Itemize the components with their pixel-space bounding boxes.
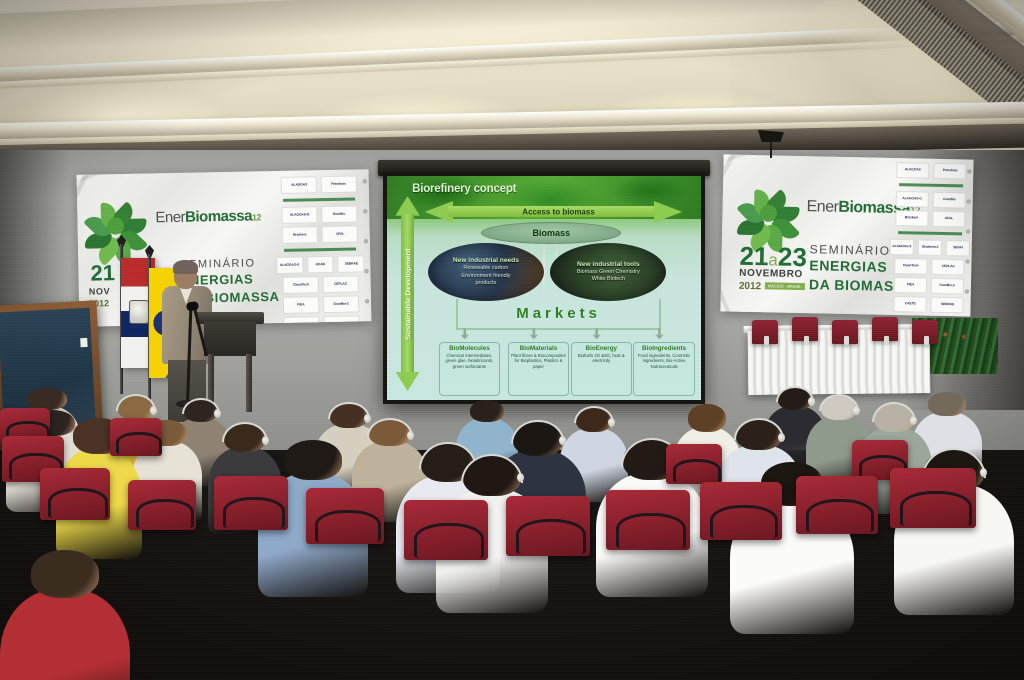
oval-new-industrial-needs: New industrial needs Renewable carbon En…: [428, 243, 544, 301]
banner-grommet: [363, 209, 367, 213]
sponsor-row: ALAGOASPetrobras: [891, 162, 971, 180]
sponsor-row: CleanTechCEPLAC: [277, 275, 365, 294]
sponsor-logo: UFAL: [932, 211, 965, 228]
audience-member-head: [31, 550, 99, 598]
sponsor-logo-grid-right: ALAGOASPetrobrasALAGOAS-GGranBioBraskemU…: [888, 162, 971, 314]
translation-headset-icon: [511, 420, 565, 444]
translation-headset-icon: [461, 454, 523, 483]
arrow-head-right-icon: [654, 201, 682, 223]
sponsor-logo: CEPLAC: [323, 275, 359, 293]
audience-member-head: [928, 392, 966, 416]
banner-right-year: 2012: [739, 281, 761, 292]
headset-earpad-icon: [778, 433, 785, 442]
audience-member-torso: [0, 589, 130, 680]
sponsor-logo: Braskem-2: [918, 239, 942, 255]
headset-earpad-icon: [150, 406, 157, 415]
banner-right-line1: ENERGIAS: [809, 257, 887, 275]
banner-left-date: 21: [90, 262, 115, 284]
sponsor-logo: GranBio: [933, 192, 966, 209]
sponsor-logo: SENAI: [946, 240, 970, 256]
sponsor-logo: UFAL: [322, 225, 358, 243]
headset-earpad-icon: [608, 418, 615, 427]
banner-grommet: [965, 259, 969, 263]
sponsor-logo: HCAB: [307, 256, 334, 274]
audience-chair: [404, 500, 488, 560]
headset-earpad-icon: [980, 468, 987, 477]
projector-mount-rod: [770, 140, 772, 158]
sponsor-logo: Petrobras: [933, 163, 966, 180]
audience-member-head: [27, 388, 67, 410]
audience-chair: [890, 468, 976, 528]
sponsor-logo: ALAGOAS-G: [281, 206, 317, 224]
sponsor-row: ALAGOAS-SBraskem-2SENAI: [890, 239, 970, 257]
audience-chair: [40, 468, 110, 520]
sponsor-logo: Braskem: [282, 226, 318, 244]
banner-grommet: [364, 269, 368, 273]
sponsor-row: BraskemUFAL: [276, 225, 364, 244]
headset-earpad-icon: [517, 473, 524, 482]
sponsor-logo: ALAGOAS-S: [276, 256, 303, 274]
audience-chair: [606, 490, 690, 550]
sponsor-logo: Braskem: [895, 210, 928, 227]
banner-right-year-badge: MACEIÓ · BRASIL: [765, 282, 805, 290]
sponsor-logo: ALAGOAS-S: [890, 239, 914, 255]
oval-line: White Biotech: [592, 276, 625, 283]
banner-grommet: [966, 229, 970, 233]
sponsor-row: ALAGOASPetrobras: [275, 175, 363, 194]
sponsor-logo: CleanTech: [283, 276, 319, 294]
sponsor-logo: ALAGOAS-G: [896, 191, 929, 208]
brand-wordmark-left: EnerBiomassa12: [155, 207, 261, 226]
enerbiomassa-logo-right: [736, 181, 801, 246]
conference-photo: EnerBiomassa12 21 NOV 2012 SEMINÁRIO ENE…: [0, 0, 1024, 680]
headset-earpad-icon: [910, 416, 917, 425]
slide-title: Biorefinery concept: [412, 183, 516, 195]
oval-title: New industrial needs: [453, 257, 519, 264]
audience-member-head: [284, 440, 342, 480]
access-to-biomass-arrow: Access to biomass: [425, 202, 682, 222]
audience-member: [176, 510, 296, 680]
banner-right-month: NOVEMBRO: [739, 268, 803, 280]
sponsor-row: ALAGOAS-GGranBio: [891, 191, 971, 209]
banner-grommet: [363, 179, 367, 183]
oval-new-industrial-tools: New industrial tools Biomass Green Chemi…: [550, 243, 666, 301]
banner-left-month: NOV: [89, 286, 111, 296]
sponsor-divider: [284, 247, 356, 251]
sponsor-row: BraskemUFAL: [890, 210, 970, 228]
sponsor-divider: [898, 231, 962, 235]
audience-chair: [110, 418, 162, 456]
audience-member-head: [470, 400, 504, 422]
sponsor-logo: GranBio-2: [931, 278, 964, 295]
oval-title: New industrial tools: [577, 261, 640, 268]
banner-grommet: [364, 239, 368, 243]
sponsor-divider: [899, 183, 963, 187]
translation-headset-icon: [734, 418, 784, 440]
banner-grommet: [967, 200, 971, 204]
banner-right-date-range: 21a23: [739, 243, 807, 270]
banner-right-kicker: SEMINÁRIO: [810, 242, 891, 258]
audience-chair: [506, 496, 590, 556]
sponsor-logo: CleanTech: [894, 258, 927, 275]
sponsor-logo: CEPLAC: [931, 259, 964, 276]
sponsor-row: FIEAGranBio-2: [889, 277, 969, 295]
banner-right: EnerBiomassa12 21a23 NOVEMBRO 2012 MACEI…: [720, 154, 973, 316]
audience-chair: [796, 476, 878, 534]
audience-member: [0, 550, 130, 680]
sponsor-row: ALAGOAS-SHCABSEBRAE: [276, 255, 364, 274]
ceiling: [0, 0, 1024, 152]
banner-grommet: [965, 289, 969, 293]
sponsor-divider: [283, 197, 355, 201]
audience-chair: [306, 488, 384, 544]
sponsor-logo: SEBRAE: [338, 255, 365, 273]
oval-line: Renewable carbon: [463, 265, 508, 272]
audience-chair: [214, 476, 288, 530]
headset-earpad-icon: [407, 431, 414, 440]
sponsor-logo: Petrobras: [321, 175, 357, 193]
audience-chair: [700, 482, 782, 540]
sponsor-logo: GranBio: [321, 205, 357, 223]
audience: [0, 300, 1024, 680]
sponsor-row: CleanTechCEPLAC: [889, 258, 969, 276]
oval-line: products: [476, 280, 497, 287]
sponsor-logo: ALAGOAS: [281, 176, 317, 194]
banner-grommet: [967, 170, 971, 174]
sponsor-row: ALAGOAS-GGranBio: [275, 205, 363, 224]
headset-earpad-icon: [214, 409, 221, 418]
horizontal-arrow-label: Access to biomass: [522, 207, 594, 216]
enerbiomassa-logo-left: [83, 193, 148, 258]
audience-chair: [128, 480, 196, 530]
oval-line: Environment friendly: [461, 273, 510, 280]
sponsor-logo: ALAGOAS: [896, 162, 929, 179]
sponsor-logo: FIEA: [894, 277, 927, 294]
presenter-hair: [173, 260, 198, 274]
audience-chair: [666, 444, 722, 484]
